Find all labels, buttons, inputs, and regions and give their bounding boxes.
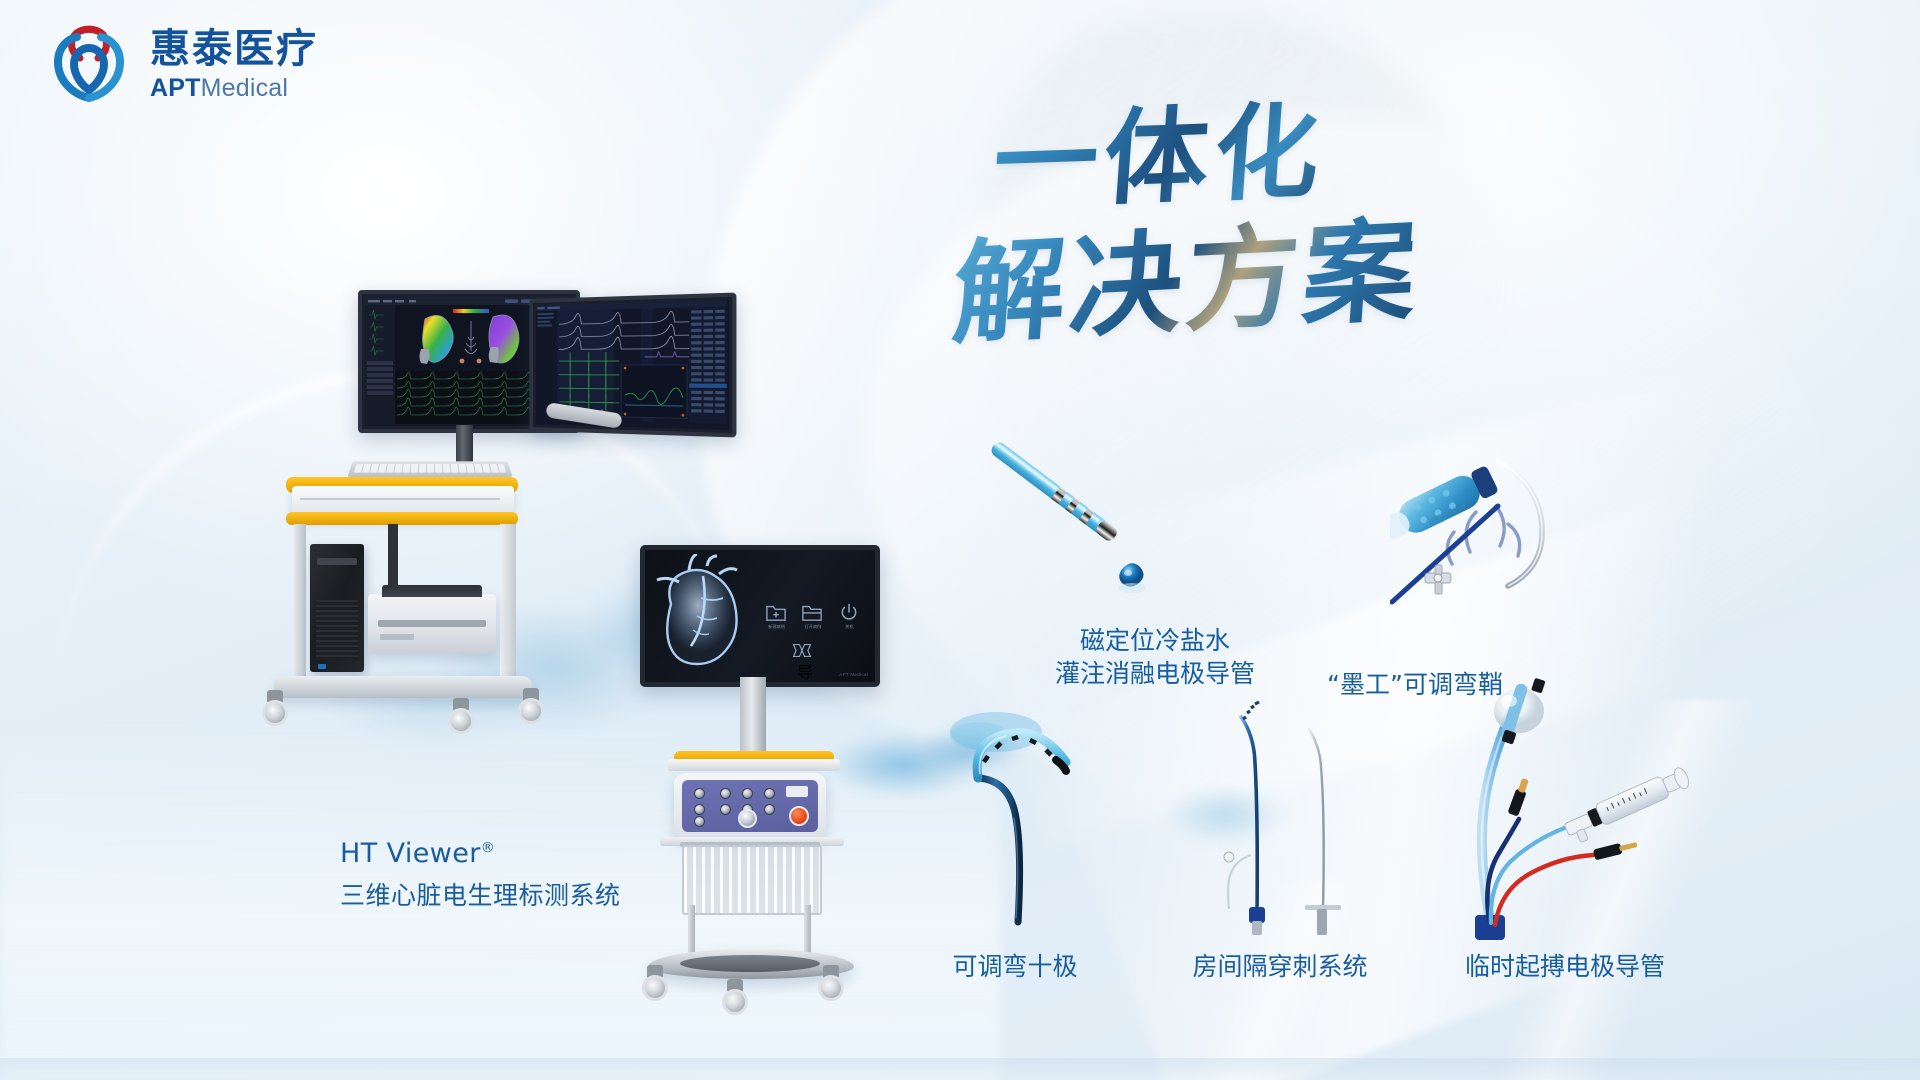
cart-caster (722, 979, 748, 1015)
product-ablation-catheter (975, 440, 1175, 610)
cart-caster (818, 965, 844, 1001)
open-study-label: 打开病例 (801, 624, 824, 630)
connector-port[interactable] (694, 804, 705, 815)
touch-display-watermark: APT Medical (839, 672, 868, 677)
storage-basket (682, 845, 822, 915)
power-label: 关机 (838, 624, 861, 630)
product-decapolar-catheter (950, 710, 1090, 940)
product-label-septal-puncture-system: 房间隔穿刺系统 (1175, 950, 1385, 983)
cart-bumper-second (286, 512, 518, 525)
product-label-decapolar-catheter: 可调弯十极 (930, 950, 1100, 983)
monitor-neck (456, 425, 473, 463)
touch-display-cart: 新建病例 打开病例 (640, 545, 900, 1045)
system-name-en-text: HT Viewer (340, 838, 481, 869)
cart-caster (262, 690, 288, 726)
report-printer (368, 594, 496, 654)
cart-caster (642, 965, 668, 1001)
new-study-button[interactable]: 新建病例 (765, 602, 788, 630)
headline-calligraphy: 一体化 解决方案 (975, 42, 1635, 362)
generator-front-panel[interactable] (682, 780, 818, 832)
folder-icon (801, 602, 824, 624)
cart-base-inset (680, 955, 820, 972)
emergency-stop-button[interactable] (789, 806, 809, 826)
power-button[interactable]: 关机 (838, 602, 861, 630)
product-label-pacing-catheter: 临时起搏电极导管 (1450, 950, 1680, 983)
connector-port[interactable] (720, 804, 731, 815)
rf-generator-unit (674, 773, 826, 839)
cart-column-right (500, 524, 516, 684)
headline-line-2: 解决方案 (948, 180, 1426, 366)
product-septal-puncture-system (1195, 685, 1365, 935)
connector-port[interactable] (720, 788, 731, 799)
new-study-label: 新建病例 (765, 624, 788, 630)
mapping-label: 导航标测 (797, 665, 813, 687)
touch-display-icon-row: 新建病例 打开病例 (765, 602, 861, 630)
connector-port[interactable] (694, 788, 705, 799)
brand-name-en: APTMedical (150, 76, 318, 101)
cart-keyboard[interactable] (347, 461, 512, 477)
display-stand-column (740, 677, 766, 755)
system-name-en: HT Viewer® (340, 838, 621, 869)
brand-name-cn: 惠泰医疗 (150, 29, 318, 69)
brand-logo: 惠泰医疗 APTMedical (44, 22, 318, 108)
power-icon (838, 602, 861, 624)
product-pacing-catheter (1445, 675, 1715, 940)
workstation-pc (310, 544, 364, 672)
system-name-cn: 三维心脏电生理标测系统 (340, 876, 621, 912)
system-name-block: HT Viewer® 三维心脏电生理标测系统 (340, 838, 621, 912)
cart-caster (448, 698, 474, 734)
cart-column-left (294, 524, 306, 684)
mapping-button[interactable]: 导航标测 (791, 642, 819, 687)
open-study-button[interactable]: 打开病例 (801, 602, 824, 630)
folder-plus-icon (765, 602, 788, 624)
trademark-symbol: ® (481, 840, 495, 856)
ground-port[interactable] (694, 816, 705, 827)
floor-strip (0, 1058, 1920, 1080)
product-label-ablation-catheter: 磁定位冷盐水 灌注消融电极导管 (1045, 624, 1265, 690)
product-steerable-sheath: APT Medical (1390, 440, 1690, 640)
generator-tray (668, 759, 840, 771)
heart-anatomy-icon (649, 554, 769, 672)
connector-port[interactable] (742, 788, 753, 799)
touch-display-monitor[interactable]: 新建病例 打开病例 (640, 545, 880, 687)
brand-name-en-bold: APT (150, 74, 201, 102)
cart-base (274, 676, 532, 698)
cart-caster (518, 688, 544, 724)
apt-medical-logo-icon (44, 22, 134, 108)
generator-display-tag (786, 786, 808, 797)
connector-port[interactable] (764, 804, 775, 815)
mapping-icon (791, 642, 819, 659)
poster-canvas: 惠泰医疗 APTMedical 一体化 解决方案 (0, 0, 1920, 1080)
main-connector-port[interactable] (738, 809, 757, 828)
touch-display-screen[interactable]: 新建病例 打开病例 (645, 550, 875, 682)
brand-name-en-light: Medical (201, 74, 289, 102)
connector-port[interactable] (764, 788, 775, 799)
